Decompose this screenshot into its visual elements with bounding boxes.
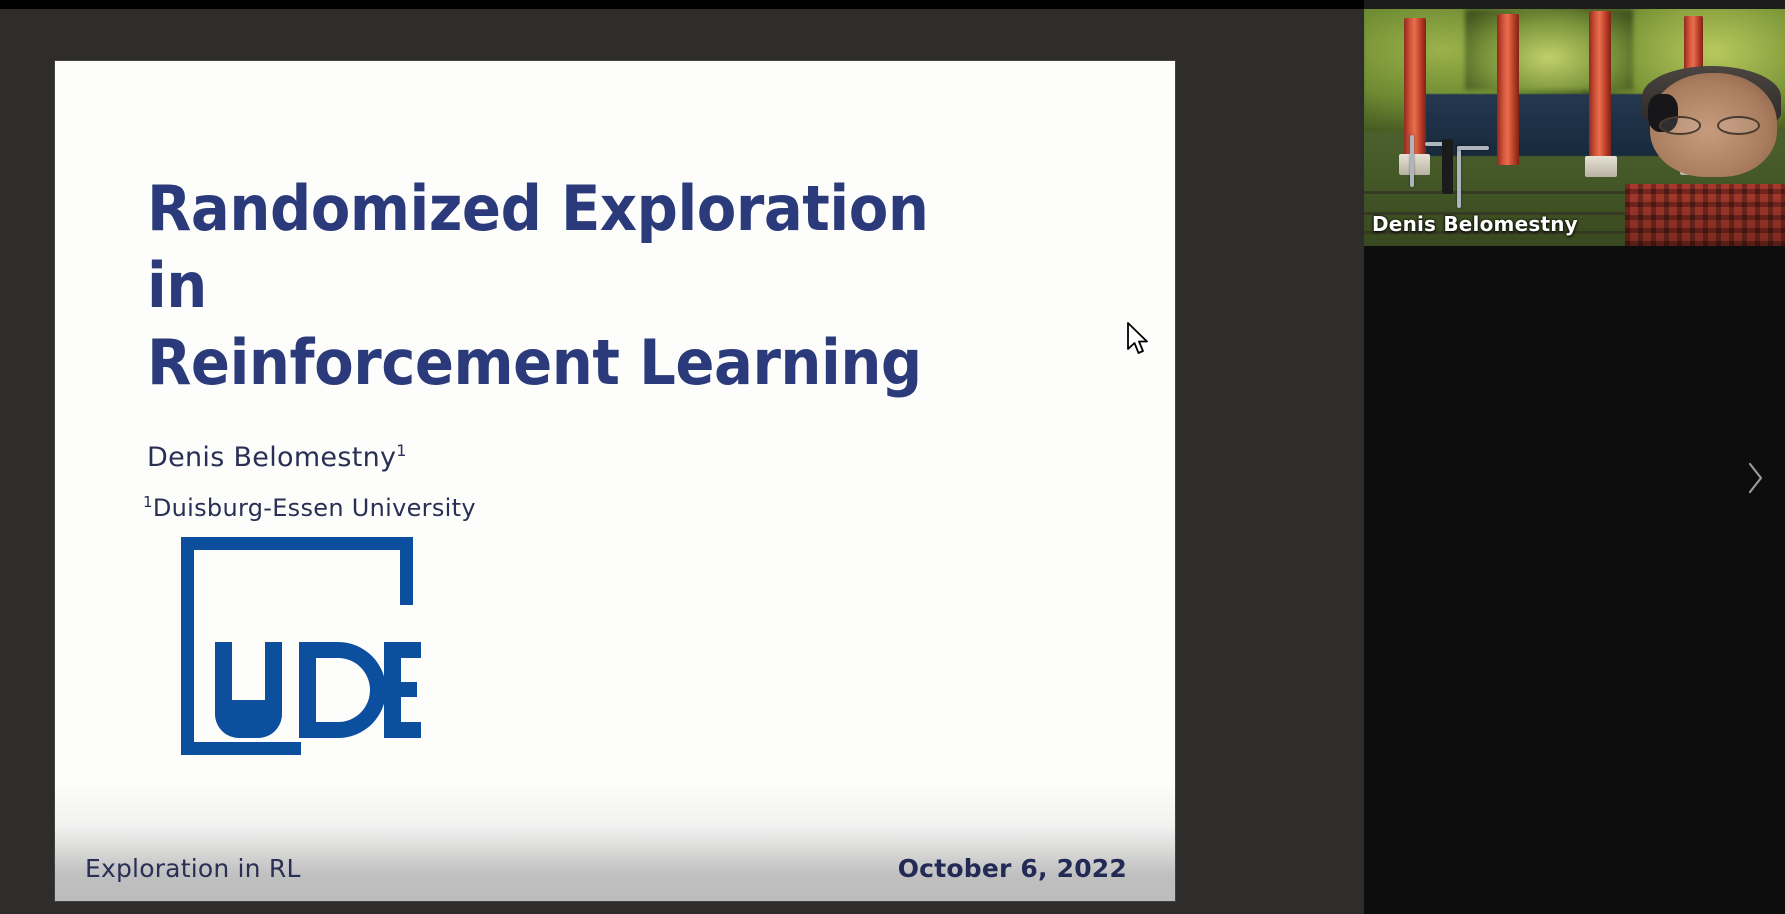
panel-empty-area xyxy=(1364,246,1785,914)
slide-footer: Exploration in RL October 6, 2022 xyxy=(55,781,1175,901)
slide-affiliation: 1Duisburg-Essen University xyxy=(143,493,476,522)
footer-date: October 6, 2022 xyxy=(898,854,1127,883)
video-tile[interactable]: Denis Belomestny xyxy=(1364,9,1785,246)
author-name: Denis Belomestny xyxy=(147,442,396,473)
slide-title-line-2: Reinforcement Learning xyxy=(147,325,984,402)
author-affiliation-marker: 1 xyxy=(396,441,406,460)
app-root: Randomized Exploration in Reinforcement … xyxy=(0,0,1785,914)
participants-panel: Denis Belomestny xyxy=(1364,0,1785,914)
screen-share-canvas: Randomized Exploration in Reinforcement … xyxy=(0,9,1364,914)
slide-title-line-1: Randomized Exploration in xyxy=(147,171,984,325)
slide-author: Denis Belomestny1 xyxy=(147,441,407,473)
slide-title: Randomized Exploration in Reinforcement … xyxy=(147,171,984,402)
slide-content: Randomized Exploration in Reinforcement … xyxy=(55,61,1175,831)
screen-share-pane: Randomized Exploration in Reinforcement … xyxy=(0,0,1364,914)
participant-name-label: Denis Belomestny xyxy=(1372,212,1578,236)
chevron-right-icon[interactable] xyxy=(1745,460,1767,496)
affiliation-name: Duisburg-Essen University xyxy=(153,494,476,522)
footer-short-title: Exploration in RL xyxy=(85,854,301,883)
affiliation-marker: 1 xyxy=(143,493,153,511)
ude-logo xyxy=(181,537,421,755)
presentation-slide[interactable]: Randomized Exploration in Reinforcement … xyxy=(55,61,1175,901)
webcam-video xyxy=(1364,9,1785,246)
arrow-cursor xyxy=(1126,322,1152,358)
